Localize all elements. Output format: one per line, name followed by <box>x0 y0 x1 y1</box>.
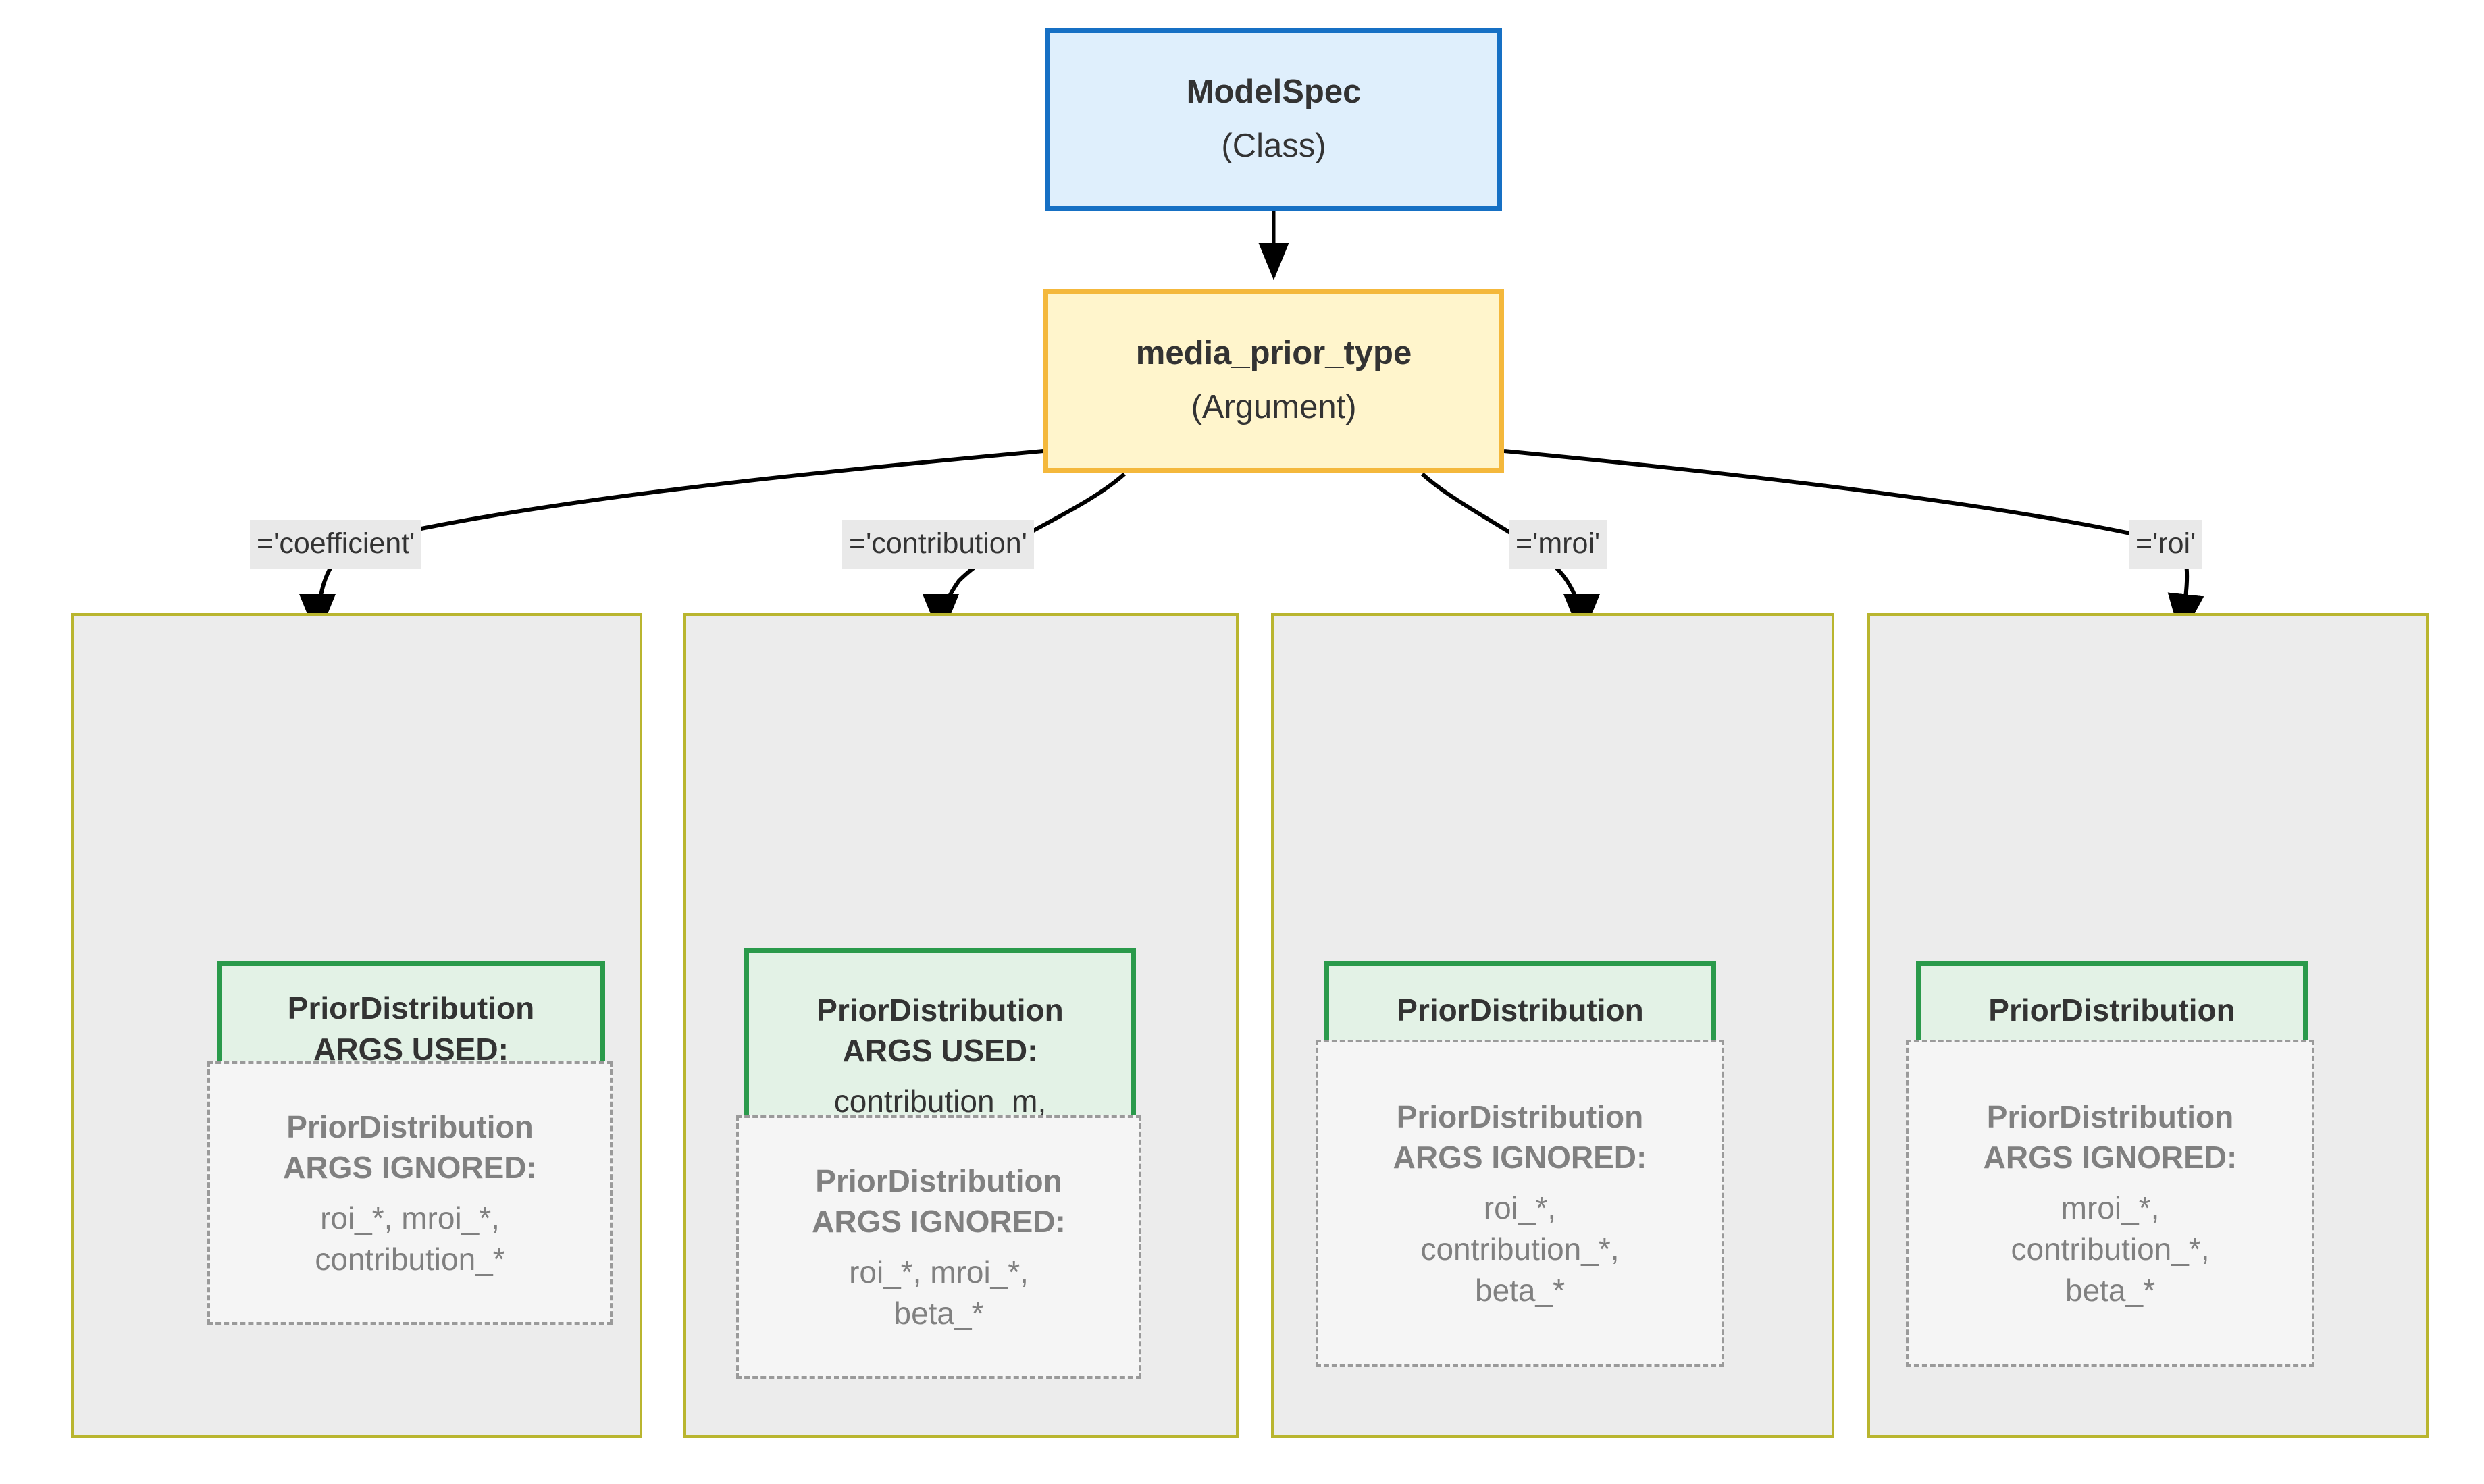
args-ignored-list-coefficient: roi_*, mroi_*, contribution_* <box>315 1198 504 1279</box>
args-ignored-box-roi[interactable]: PriorDistribution ARGS IGNORED: mroi_*, … <box>1906 1040 2314 1367</box>
args-ignored-title-mroi: PriorDistribution <box>1397 1096 1643 1138</box>
args-used-title-contribution: PriorDistribution <box>817 990 1063 1031</box>
branch-container-mroi: PriorDistribution ARGS USED: mroi_m, mro… <box>1271 613 1834 1438</box>
node-media-prior-type[interactable]: media_prior_type (Argument) <box>1043 289 1504 473</box>
args-used-subtitle-contribution: ARGS USED: <box>843 1030 1038 1071</box>
args-ignored-subtitle-coefficient: ARGS IGNORED: <box>283 1147 537 1188</box>
edge-label-roi: ='roi' <box>2129 520 2202 569</box>
args-ignored-box-mroi[interactable]: PriorDistribution ARGS IGNORED: roi_*, c… <box>1316 1040 1724 1367</box>
branch-container-contribution: PriorDistribution ARGS USED: contributio… <box>683 613 1239 1438</box>
args-ignored-title-roi: PriorDistribution <box>1987 1096 2233 1138</box>
args-ignored-title-contribution: PriorDistribution <box>815 1161 1062 1202</box>
args-ignored-list-mroi: roi_*, contribution_*, beta_* <box>1420 1188 1619 1310</box>
diagram-canvas: ModelSpec (Class) media_prior_type (Argu… <box>0 0 2484 1484</box>
edge-label-coefficient: ='coefficient' <box>250 520 421 569</box>
node-media-prior-type-kind: (Argument) <box>1191 386 1356 429</box>
node-modelspec[interactable]: ModelSpec (Class) <box>1045 28 1502 211</box>
args-used-title-roi: PriorDistribution <box>1988 990 2235 1031</box>
node-modelspec-kind: (Class) <box>1221 125 1326 168</box>
args-ignored-box-coefficient[interactable]: PriorDistribution ARGS IGNORED: roi_*, m… <box>207 1061 613 1325</box>
node-media-prior-type-name: media_prior_type <box>1136 332 1412 375</box>
args-ignored-box-contribution[interactable]: PriorDistribution ARGS IGNORED: roi_*, m… <box>736 1115 1141 1379</box>
branch-container-coefficient: PriorDistribution ARGS USED: beta_m, bet… <box>71 613 642 1438</box>
node-modelspec-name: ModelSpec <box>1187 71 1362 114</box>
args-used-title-coefficient: PriorDistribution <box>288 988 534 1029</box>
edge-label-contribution: ='contribution' <box>842 520 1034 569</box>
args-ignored-subtitle-roi: ARGS IGNORED: <box>1984 1137 2237 1178</box>
args-ignored-title-coefficient: PriorDistribution <box>286 1107 533 1148</box>
args-ignored-subtitle-contribution: ARGS IGNORED: <box>812 1201 1066 1242</box>
args-used-title-mroi: PriorDistribution <box>1397 990 1643 1031</box>
args-ignored-subtitle-mroi: ARGS IGNORED: <box>1393 1137 1647 1178</box>
branch-container-roi: PriorDistribution ARGS USED: roi_m, roi_… <box>1867 613 2429 1438</box>
edge-label-mroi: ='mroi' <box>1509 520 1607 569</box>
args-ignored-list-roi: mroi_*, contribution_*, beta_* <box>2011 1188 2209 1310</box>
args-ignored-list-contribution: roi_*, mroi_*, beta_* <box>849 1252 1029 1333</box>
